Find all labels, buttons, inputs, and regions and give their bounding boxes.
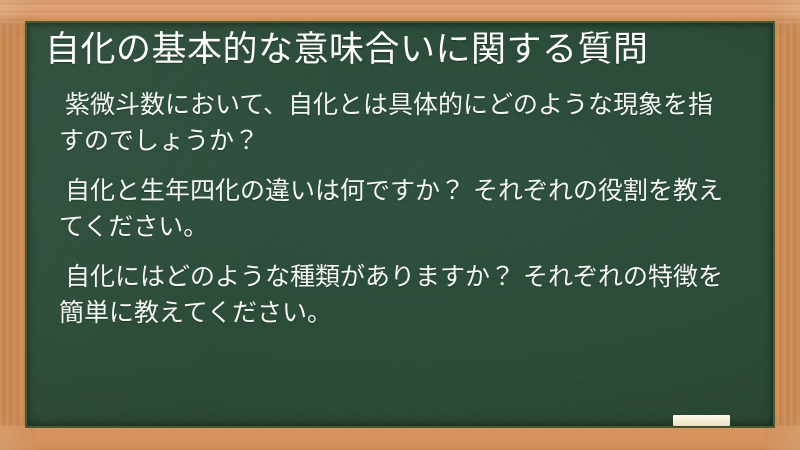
chalkboard-content: 自化の基本的な意味合いに関する質問 紫微斗数において、自化とは具体的にどのような… <box>27 23 773 426</box>
chalk-stick-icon <box>673 415 730 426</box>
chalkboard-surface: 自化の基本的な意味合いに関する質問 紫微斗数において、自化とは具体的にどのような… <box>27 23 773 426</box>
slide-title: 自化の基本的な意味合いに関する質問 <box>45 30 751 71</box>
frame-rail-bottom <box>0 426 800 450</box>
frame-rail-top <box>0 0 800 23</box>
slide-screen: 自化の基本的な意味合いに関する質問 紫微斗数において、自化とは具体的にどのような… <box>0 0 800 450</box>
question-item-2: 自化と生年四化の違いは何ですか？ それぞれの役割を教えてください。 <box>59 173 737 244</box>
question-item-1: 紫微斗数において、自化とは具体的にどのような現象を指すのでしょうか？ <box>59 87 737 158</box>
question-list: 紫微斗数において、自化とは具体的にどのような現象を指すのでしょうか？ 自化と生年… <box>45 87 751 330</box>
question-item-3: 自化にはどのような種類がありますか？ それぞれの特徴を簡単に教えてください。 <box>59 259 737 330</box>
